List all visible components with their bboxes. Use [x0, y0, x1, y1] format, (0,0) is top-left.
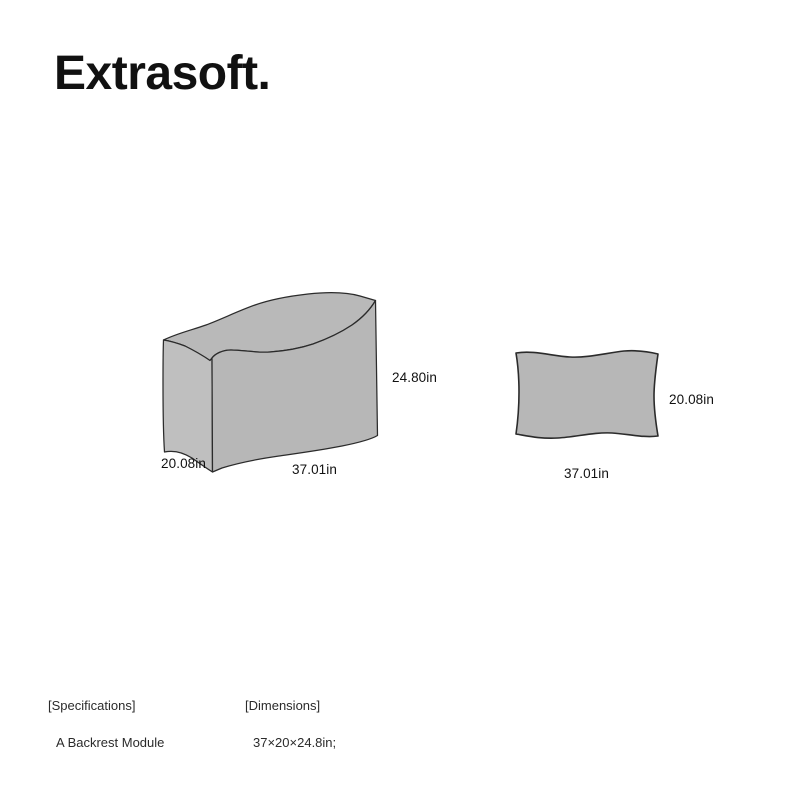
- specifications-block: [Specifications] [Dimensions] A Backrest…: [48, 698, 468, 750]
- dimension-label-iso-depth: 20.08in: [161, 456, 206, 471]
- plan-view-face: [516, 351, 658, 438]
- dimensions-value: 37×20×24.8in;: [253, 735, 473, 751]
- backrest-module-plan-drawing: [516, 351, 658, 438]
- isometric-left-face: [163, 340, 213, 472]
- isometric-front-face: [212, 301, 378, 473]
- specifications-heading: [Specifications]: [48, 698, 245, 714]
- specifications-value-row: A Backrest Module 37×20×24.8in;: [48, 714, 468, 751]
- isometric-top-face: [164, 293, 376, 361]
- dimensions-heading: [Dimensions]: [245, 698, 465, 714]
- page-title: Extrasoft.: [54, 48, 270, 101]
- dimension-label-plan-width: 37.01in: [564, 466, 609, 481]
- specifications-value: A Backrest Module: [48, 735, 253, 751]
- dimension-label-iso-width: 37.01in: [292, 462, 337, 477]
- dimension-label-plan-depth: 20.08in: [669, 392, 714, 407]
- dimension-label-iso-height: 24.80in: [392, 370, 437, 385]
- backrest-module-isometric-drawing: [163, 293, 378, 472]
- specifications-heading-row: [Specifications] [Dimensions]: [48, 698, 468, 714]
